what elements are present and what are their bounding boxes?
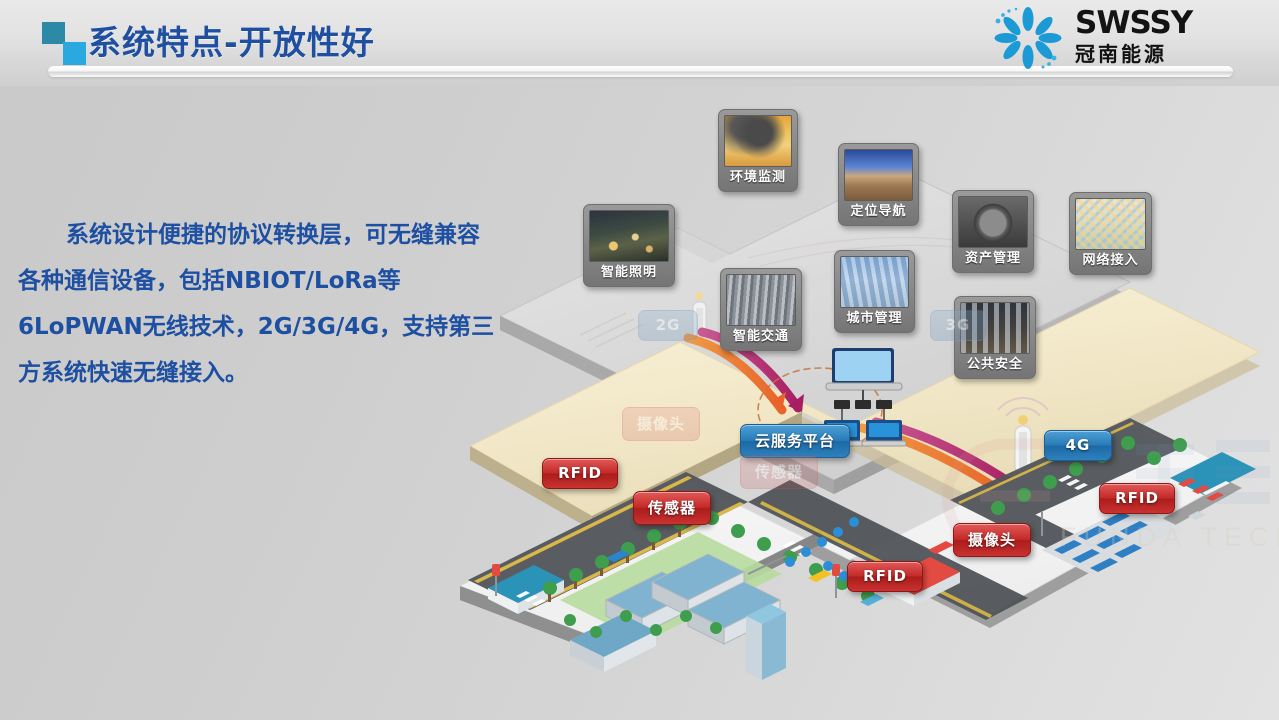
decor-square-light — [63, 42, 86, 65]
card-positioning-navigation[interactable]: 定位导航 — [838, 143, 919, 226]
card-smart-transport[interactable]: 智能交通 — [720, 268, 802, 351]
card-environment-monitoring[interactable]: 环境监测 — [718, 109, 798, 192]
card-label: 网络接入 — [1075, 250, 1146, 272]
city-aerial-view-image — [840, 256, 909, 308]
card-label: 公共安全 — [960, 354, 1030, 376]
card-asset-management[interactable]: 资产管理 — [952, 190, 1034, 273]
card-label: 智能照明 — [589, 262, 669, 284]
label-sensor-main[interactable]: 传感器 — [633, 491, 711, 525]
card-label: 城市管理 — [840, 308, 909, 330]
label-camera-faded: 摄像头 — [622, 407, 700, 441]
water-droplet-flower-icon — [991, 6, 1065, 70]
label-sensor-faded: 传感器 — [740, 455, 818, 489]
label-cloud-platform[interactable]: 云服务平台 — [740, 424, 850, 458]
decor-square-dark — [42, 22, 65, 44]
smokestack-pollution-image — [724, 115, 792, 167]
truck-on-highway-image — [844, 149, 913, 201]
card-label: 环境监测 — [724, 167, 792, 189]
company-logo: SWSSY 冠南能源 — [991, 4, 1261, 72]
label-4g[interactable]: 4G — [1044, 430, 1112, 461]
card-label: 资产管理 — [958, 248, 1028, 270]
manhole-cover-image — [958, 196, 1028, 248]
card-label: 定位导航 — [844, 201, 913, 223]
logo-brand-name: SWSSY — [1075, 8, 1192, 39]
night-city-lighting-image — [589, 210, 669, 262]
label-2g: 2G — [638, 310, 698, 341]
label-rfid-center[interactable]: RFID — [847, 561, 923, 592]
map-and-handheld-device-image — [1075, 198, 1146, 250]
card-smart-lighting[interactable]: 智能照明 — [583, 204, 675, 287]
header-decor-squares — [42, 22, 88, 66]
traffic-jam-highway-image — [726, 274, 796, 326]
card-city-management[interactable]: 城市管理 — [834, 250, 915, 333]
logo-brand-sub: 冠南能源 — [1075, 41, 1192, 67]
logo-text-block: SWSSY 冠南能源 — [1075, 8, 1192, 67]
label-camera-main[interactable]: 摄像头 — [953, 523, 1031, 557]
label-3g: 3G — [930, 310, 986, 341]
slide-header: 系统特点-开放性好 — [0, 0, 1279, 86]
page-title: 系统特点-开放性好 — [88, 16, 375, 64]
iot-architecture-illustration: FUNDA TECHNOLOGY 智能照明 环境监测 智能交通 定位导航 城市管… — [430, 80, 1279, 720]
card-label: 智能交通 — [726, 326, 796, 348]
card-network-access[interactable]: 网络接入 — [1069, 192, 1152, 275]
label-rfid-top-left[interactable]: RFID — [542, 458, 618, 489]
label-rfid-right[interactable]: RFID — [1099, 483, 1175, 514]
